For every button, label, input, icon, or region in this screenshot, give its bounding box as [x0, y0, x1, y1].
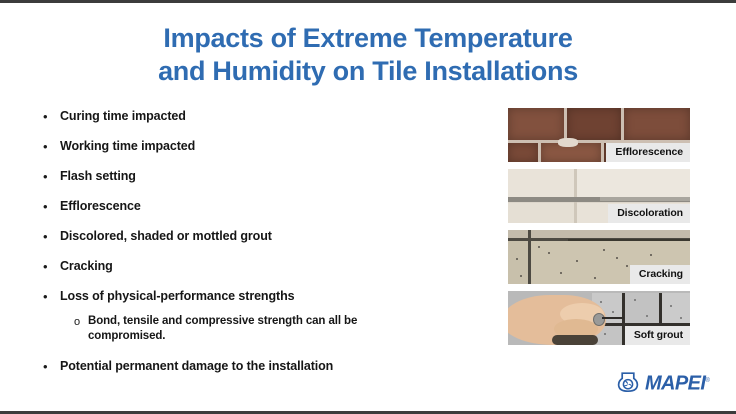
bullet-marker-icon: • — [38, 288, 60, 305]
top-letterbox-bar — [0, 0, 736, 3]
bullet-marker-icon: • — [38, 198, 60, 215]
bullet-marker-icon: • — [38, 138, 60, 155]
title-line-2: and Humidity on Tile Installations — [0, 55, 736, 88]
list-item-label: Loss of physical-performance strengths — [60, 288, 294, 304]
slide-canvas: Impacts of Extreme Temperature and Humid… — [0, 0, 736, 414]
list-item: • Curing time impacted — [38, 108, 478, 125]
list-item-label: Discolored, shaded or mottled grout — [60, 228, 272, 244]
panel-label-discoloration: Discoloration — [608, 204, 690, 223]
panel-cracking: Cracking — [508, 230, 690, 284]
bullet-marker-icon: • — [38, 168, 60, 185]
list-item: • Efflorescence — [38, 198, 478, 215]
example-image-stack: Efflorescence Discoloration — [508, 108, 690, 352]
list-item-label: Working time impacted — [60, 138, 195, 154]
list-item-label: Curing time impacted — [60, 108, 186, 124]
sub-list-item-label: Bond, tensile and compressive strength c… — [88, 314, 388, 344]
list-item-label: Cracking — [60, 258, 113, 274]
panel-label-efflorescence: Efflorescence — [606, 143, 690, 162]
bullet-marker-icon: • — [38, 258, 60, 275]
list-item-label: Flash setting — [60, 168, 136, 184]
sub-list-item: o Bond, tensile and compressive strength… — [66, 314, 478, 344]
panel-discoloration: Discoloration — [508, 169, 690, 223]
list-item: • Loss of physical-performance strengths — [38, 288, 478, 305]
list-item: • Discolored, shaded or mottled grout — [38, 228, 478, 245]
list-item: • Cracking — [38, 258, 478, 275]
mapei-emblem-icon — [616, 370, 640, 394]
sub-bullet-marker-icon: o — [66, 314, 88, 331]
list-item-label: Efflorescence — [60, 198, 141, 214]
panel-label-soft-grout: Soft grout — [625, 326, 690, 345]
bullet-list: • Curing time impacted • Working time im… — [38, 108, 478, 388]
page-title: Impacts of Extreme Temperature and Humid… — [0, 22, 736, 88]
list-item: • Flash setting — [38, 168, 478, 185]
registered-trademark-symbol: ® — [705, 378, 709, 384]
title-line-1: Impacts of Extreme Temperature — [0, 22, 736, 55]
panel-label-cracking: Cracking — [630, 265, 690, 284]
bullet-marker-icon: • — [38, 228, 60, 245]
bullet-marker-icon: • — [38, 108, 60, 125]
list-item: • Potential permanent damage to the inst… — [38, 358, 478, 375]
panel-efflorescence: Efflorescence — [508, 108, 690, 162]
bullet-marker-icon: • — [38, 358, 60, 375]
list-item-label: Potential permanent damage to the instal… — [60, 358, 333, 374]
list-item: • Working time impacted — [38, 138, 478, 155]
panel-soft-grout: Soft grout — [508, 291, 690, 345]
mapei-wordmark: MAPEI® — [645, 371, 709, 394]
mapei-logo: MAPEI® — [616, 370, 709, 394]
mapei-wordmark-text: MAPEI — [645, 372, 705, 394]
